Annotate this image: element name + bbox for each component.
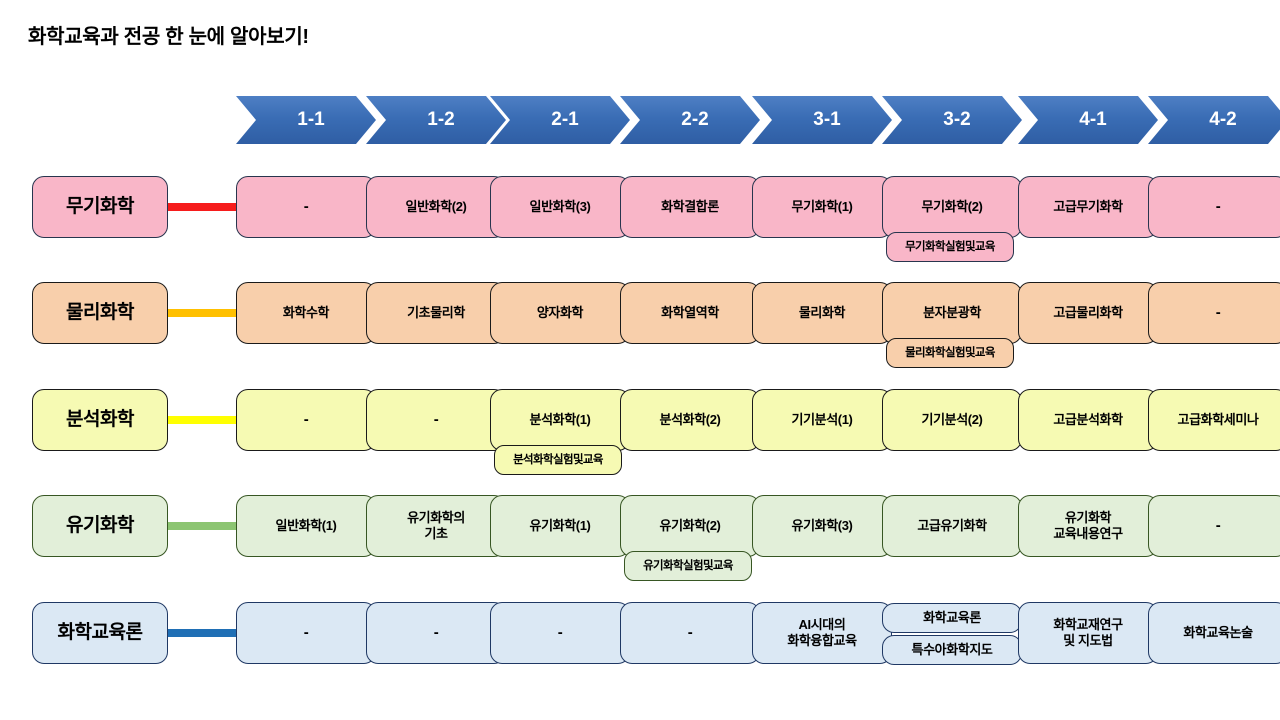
- course-cell-empty: -: [1148, 495, 1280, 557]
- row-education: 화학교육론----AI시대의 화학융합교육화학교육론특수아화학지도화학교재연구 …: [0, 602, 1280, 710]
- semester-chevron-label: 1-2: [417, 109, 454, 131]
- course-cell-empty: -: [236, 602, 376, 664]
- row-analytical: 분석화학--분석화학(1)분석화학실험및교육분석화학(2)기기분석(1)기기분석…: [0, 389, 1280, 497]
- course-cell: 유기화학의 기초: [366, 495, 506, 557]
- course-cell: 화학결합론: [620, 176, 760, 238]
- track-connector-line: [164, 629, 240, 637]
- row-inorganic: 무기화학-일반화학(2)일반화학(3)화학결합론무기화학(1)무기화학(2)무기…: [0, 176, 1280, 284]
- track-label-row-organic: 유기화학: [32, 495, 168, 557]
- course-cell-empty: -: [1148, 282, 1280, 344]
- semester-chevron-4-2: 4-2: [1148, 96, 1280, 144]
- course-cell: 분자분광학: [882, 282, 1022, 344]
- course-cell: 유기화학(3): [752, 495, 892, 557]
- course-cell: 기초물리학: [366, 282, 506, 344]
- course-cell-empty: -: [1148, 176, 1280, 238]
- track-connector-line: [164, 203, 240, 211]
- semester-chevron-1-2: 1-2: [366, 96, 506, 144]
- course-cell: 유기화학(1): [490, 495, 630, 557]
- course-cell-lab: 유기화학실험및교육: [624, 551, 752, 581]
- course-cell-empty: -: [366, 602, 506, 664]
- track-label-row-education: 화학교육론: [32, 602, 168, 664]
- track-connector-line: [164, 309, 240, 317]
- course-cell: 양자화학: [490, 282, 630, 344]
- semester-chevron-2-1: 2-1: [490, 96, 630, 144]
- semester-chevron-1-1: 1-1: [236, 96, 376, 144]
- course-cell: 고급분석화학: [1018, 389, 1158, 451]
- semester-chevron-label: 4-2: [1199, 109, 1236, 131]
- semester-chevron-3-2: 3-2: [882, 96, 1022, 144]
- course-cell: 일반화학(3): [490, 176, 630, 238]
- semester-chevron-label: 4-1: [1069, 109, 1106, 131]
- course-cell: 화학열역학: [620, 282, 760, 344]
- course-cell: 기기분석(1): [752, 389, 892, 451]
- course-cell: 유기화학(2): [620, 495, 760, 557]
- semester-chevron-4-1: 4-1: [1018, 96, 1158, 144]
- semester-chevron-label: 3-2: [933, 109, 970, 131]
- course-cell-lab: 물리화학실험및교육: [886, 338, 1014, 368]
- course-cell-lab: 분석화학실험및교육: [494, 445, 622, 475]
- course-cell: 화학교재연구 및 지도법: [1018, 602, 1158, 664]
- course-cell: AI시대의 화학융합교육: [752, 602, 892, 664]
- course-cell: 무기화학(2): [882, 176, 1022, 238]
- track-connector-line: [164, 416, 240, 424]
- semester-header-row: 1-11-22-12-23-13-24-14-2: [0, 96, 1280, 144]
- semester-chevron-label: 3-1: [803, 109, 840, 131]
- course-cell: 고급유기화학: [882, 495, 1022, 557]
- track-label-row-inorganic: 무기화학: [32, 176, 168, 238]
- course-cell: 화학교육론: [882, 603, 1022, 633]
- course-cell-lab: 무기화학실험및교육: [886, 232, 1014, 262]
- course-cell-empty: -: [620, 602, 760, 664]
- course-cell: 일반화학(1): [236, 495, 376, 557]
- semester-chevron-3-1: 3-1: [752, 96, 892, 144]
- course-cell-empty: -: [236, 389, 376, 451]
- course-cell: 물리화학: [752, 282, 892, 344]
- course-cell: 고급무기화학: [1018, 176, 1158, 238]
- course-cell-empty: -: [490, 602, 630, 664]
- course-cell: 분석화학(1): [490, 389, 630, 451]
- track-label-row-analytical: 분석화학: [32, 389, 168, 451]
- semester-chevron-2-2: 2-2: [620, 96, 760, 144]
- course-cell: 기기분석(2): [882, 389, 1022, 451]
- course-cell: 고급물리화학: [1018, 282, 1158, 344]
- course-cell: 일반화학(2): [366, 176, 506, 238]
- track-label-row-physical: 물리화학: [32, 282, 168, 344]
- semester-chevron-label: 2-2: [671, 109, 708, 131]
- course-cell: 무기화학(1): [752, 176, 892, 238]
- course-cell: 고급화학세미나: [1148, 389, 1280, 451]
- course-cell: 유기화학 교육내용연구: [1018, 495, 1158, 557]
- semester-chevron-label: 1-1: [287, 109, 324, 131]
- course-cell-stacked: 특수아화학지도: [882, 635, 1022, 665]
- semester-chevron-label: 2-1: [541, 109, 578, 131]
- row-organic: 유기화학일반화학(1)유기화학의 기초유기화학(1)유기화학(2)유기화학실험및…: [0, 495, 1280, 603]
- row-physical: 물리화학화학수학기초물리학양자화학화학열역학물리화학분자분광학물리화학실험및교육…: [0, 282, 1280, 390]
- track-connector-line: [164, 522, 240, 530]
- course-cell-empty: -: [236, 176, 376, 238]
- course-cell: 분석화학(2): [620, 389, 760, 451]
- course-cell: 화학수학: [236, 282, 376, 344]
- page-title: 화학교육과 전공 한 눈에 알아보기!: [28, 20, 309, 49]
- course-cell-empty: -: [366, 389, 506, 451]
- course-cell: 화학교육논술: [1148, 602, 1280, 664]
